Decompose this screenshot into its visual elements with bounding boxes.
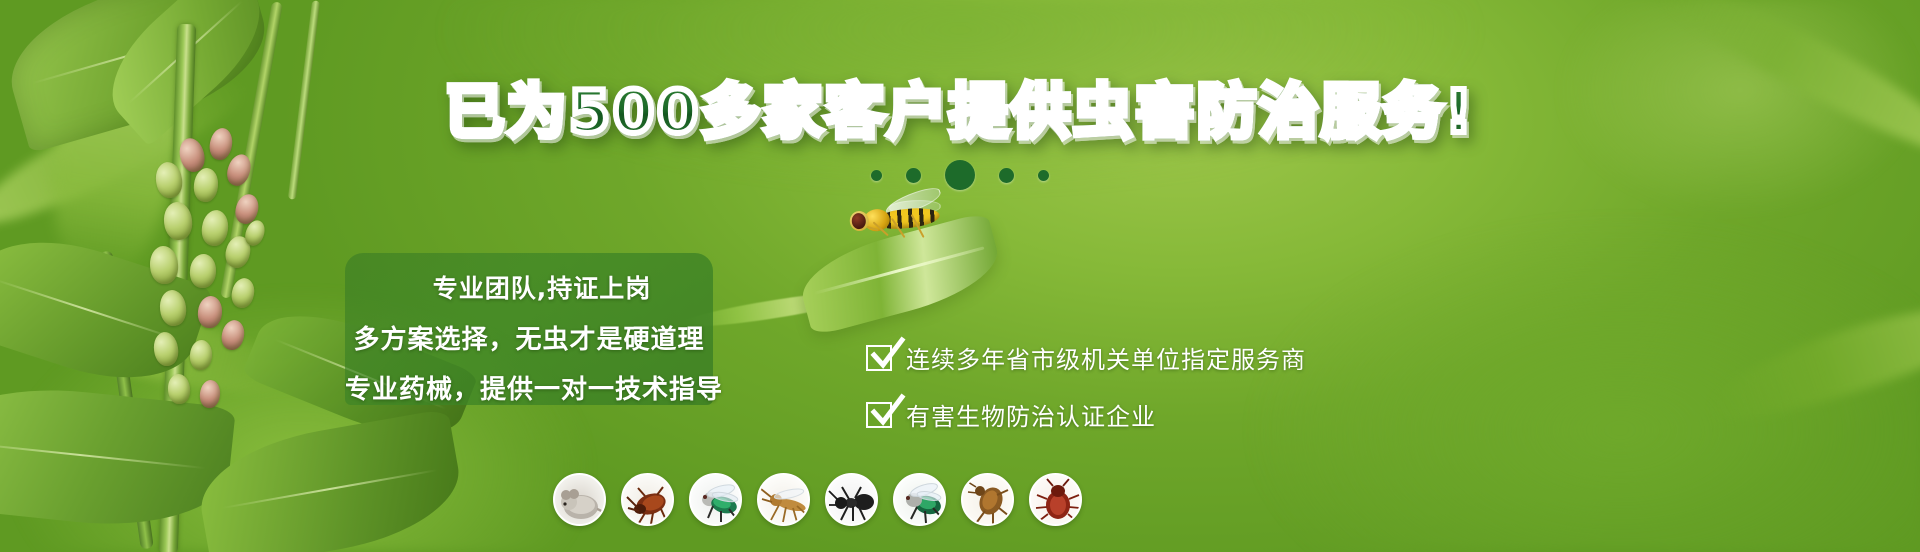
mouse-icon[interactable] [553, 473, 606, 526]
pest-type-icon-row [553, 473, 1082, 526]
feature-line-3: 专业药械，提供一对一技术指导 [345, 369, 713, 406]
dot-medium-icon [999, 168, 1014, 183]
list-item: 有害生物防治认证企业 [866, 397, 1306, 432]
plant-bud [149, 245, 180, 285]
plant-bud-tip [199, 379, 222, 409]
feature-line-2: 多方案选择，无虫才是硬道理 [345, 319, 713, 356]
list-item: 连续多年省市级机关单位指定服务商 [866, 340, 1306, 375]
credentials-list: 连续多年省市级机关单位指定服务商 有害生物防治认证企业 [866, 340, 1306, 454]
headline-text: 已为500多家客户提供虫害防治服务! [445, 82, 1475, 141]
dot-medium-icon [906, 168, 921, 183]
plant-bud [229, 276, 257, 310]
plant-bud-tip [219, 318, 247, 352]
plant-bud [158, 289, 188, 328]
banner-headline: 已为500多家客户提供虫害防治服务! [0, 82, 1920, 141]
plant-bud [162, 201, 194, 242]
check-square-icon [866, 402, 892, 428]
feature-line-1: 专业团队,持证上岗 [371, 269, 713, 305]
plant-bud [167, 373, 191, 404]
feature-highlight-box: 专业团队,持证上岗 多方案选择，无虫才是硬道理 专业药械，提供一对一技术指导 [345, 253, 713, 405]
plant-bud-tip [196, 295, 223, 329]
dot-large-icon [945, 160, 975, 190]
credential-label: 有害生物防治认证企业 [906, 397, 1156, 432]
ant-icon[interactable] [825, 473, 878, 526]
bedbug-icon[interactable] [1029, 473, 1082, 526]
flea-icon[interactable] [961, 473, 1014, 526]
plant-bud [189, 339, 213, 370]
check-square-icon [866, 345, 892, 371]
dot-small-icon [1038, 170, 1049, 181]
mosquito-icon[interactable] [757, 473, 810, 526]
plant-bud [152, 330, 180, 367]
decorative-dot-separator [0, 160, 1920, 190]
greenbottle-fly-icon[interactable] [893, 473, 946, 526]
cockroach-icon[interactable] [621, 473, 674, 526]
dot-small-icon [871, 170, 882, 181]
pest-control-banner: 已为500多家客户提供虫害防治服务! 专业团队,持证上岗 多方案选择，无虫才是硬… [0, 0, 1920, 552]
plant-bud [189, 253, 217, 289]
plant-bud [200, 208, 231, 247]
credential-label: 连续多年省市级机关单位指定服务商 [906, 340, 1306, 375]
hoverfly-eye [851, 212, 867, 229]
housefly-icon[interactable] [689, 473, 742, 526]
